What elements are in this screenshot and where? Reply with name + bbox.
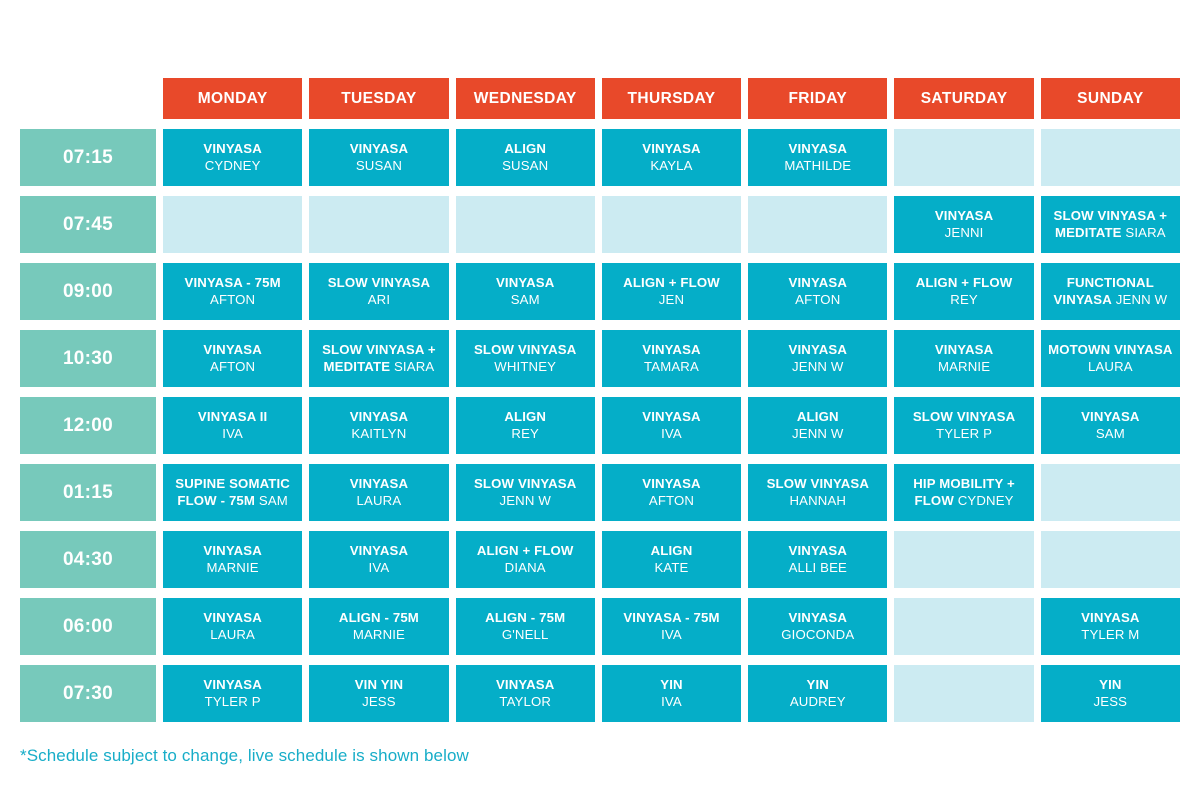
class-slot-text: VINYASAJENNI [935, 208, 993, 242]
class-name: VINYASA [935, 342, 993, 359]
class-slot[interactable]: VINYASACYDNEY [163, 129, 302, 186]
class-name: VINYASA [789, 342, 847, 359]
class-name: SLOW VINYASA [474, 342, 576, 359]
instructor-name: ARI [328, 292, 430, 309]
class-slot-text: SLOW VINYASA + MEDITATE SIARA [1046, 208, 1175, 242]
instructor-name: SAM [496, 292, 554, 309]
class-slot[interactable]: VINYASATAMARA [602, 330, 741, 387]
class-slot[interactable]: VINYASATYLER M [1041, 598, 1180, 655]
class-slot[interactable]: SLOW VINYASAJENN W [456, 464, 595, 521]
time-slot-label: 04:30 [20, 531, 156, 588]
class-slot[interactable]: VINYASAMARNIE [894, 330, 1033, 387]
class-slot-text: VINYASATYLER M [1081, 610, 1139, 644]
instructor-name: TYLER P [203, 694, 261, 711]
grid-corner-spacer [20, 78, 156, 119]
time-slot-label: 12:00 [20, 397, 156, 454]
instructor-name: SUSAN [502, 158, 548, 175]
instructor-name: REY [916, 292, 1013, 309]
class-name: VINYASA [203, 610, 261, 627]
instructor-name: MARNIE [203, 560, 261, 577]
class-slot-text: ALIGN - 75MMARNIE [339, 610, 419, 644]
class-name: SLOW VINYASA [767, 476, 869, 493]
empty-slot [748, 196, 887, 253]
class-slot-text: VINYASAGIOCONDA [781, 610, 854, 644]
empty-slot [894, 598, 1033, 655]
class-name: VINYASA [642, 476, 700, 493]
class-slot[interactable]: SLOW VINYASA + MEDITATE SIARA [1041, 196, 1180, 253]
class-name: VINYASA [1081, 409, 1139, 426]
class-slot[interactable]: VINYASA - 75MAFTON [163, 263, 302, 320]
empty-slot [894, 531, 1033, 588]
class-slot-text: VINYASALAURA [203, 610, 261, 644]
class-name: VINYASA [642, 141, 700, 158]
instructor-name: REY [504, 426, 546, 443]
class-slot[interactable]: HIP MOBILITY + FLOW CYDNEY [894, 464, 1033, 521]
time-slot-label: 07:15 [20, 129, 156, 186]
class-slot[interactable]: VINYASAIVA [602, 397, 741, 454]
class-slot-text: MOTOWN VINYASALAURA [1048, 342, 1172, 376]
instructor-name: IVA [642, 426, 700, 443]
class-name: SLOW VINYASA [474, 476, 576, 493]
class-slot[interactable]: VINYASATAYLOR [456, 665, 595, 722]
instructor-name: SIARA [1125, 225, 1165, 240]
class-slot-text: VINYASATAYLOR [496, 677, 554, 711]
class-slot-text: YINIVA [660, 677, 682, 711]
class-slot-text: VINYASAAFTON [642, 476, 700, 510]
class-name: VINYASA [784, 141, 851, 158]
class-name: VINYASA [203, 342, 261, 359]
class-slot[interactable]: VINYASAALLI BEE [748, 531, 887, 588]
instructor-name: SAM [259, 493, 288, 508]
class-slot[interactable]: VINYASAKAYLA [602, 129, 741, 186]
day-header-saturday: SATURDAY [894, 78, 1033, 119]
class-name: VINYASA - 75M [185, 275, 281, 292]
class-name: VINYASA - 75M [623, 610, 719, 627]
instructor-name: TYLER P [913, 426, 1015, 443]
class-name: VINYASA [496, 677, 554, 694]
class-slot[interactable]: YINJESS [1041, 665, 1180, 722]
class-slot-text: VINYASASAM [1081, 409, 1139, 443]
class-slot[interactable]: YINAUDREY [748, 665, 887, 722]
class-slot-text: VINYASACYDNEY [203, 141, 261, 175]
class-slot[interactable]: VINYASAJENN W [748, 330, 887, 387]
instructor-name: JENN W [792, 426, 843, 443]
instructor-name: JENN W [474, 493, 576, 510]
class-slot-text: YINAUDREY [790, 677, 846, 711]
class-name: ALIGN [792, 409, 843, 426]
class-slot[interactable]: SLOW VINYASAHANNAH [748, 464, 887, 521]
class-slot[interactable]: VINYASA IIIVA [163, 397, 302, 454]
class-slot[interactable]: SLOW VINYASATYLER P [894, 397, 1033, 454]
time-slot-label: 09:00 [20, 263, 156, 320]
class-name: VINYASA [642, 342, 700, 359]
class-name: ALIGN - 75M [485, 610, 565, 627]
day-header-wednesday: WEDNESDAY [456, 78, 595, 119]
class-slot[interactable]: ALIGN + FLOWJEN [602, 263, 741, 320]
time-slot-label: 10:30 [20, 330, 156, 387]
class-slot[interactable]: MOTOWN VINYASALAURA [1041, 330, 1180, 387]
empty-slot [1041, 129, 1180, 186]
class-slot[interactable]: VINYASASAM [456, 263, 595, 320]
class-slot-text: ALIGN + FLOWREY [916, 275, 1013, 309]
instructor-name: AUDREY [790, 694, 846, 711]
class-name: MOTOWN VINYASA [1048, 342, 1172, 359]
class-slot-text: ALIGNSUSAN [502, 141, 548, 175]
class-slot-text: VINYASALAURA [350, 476, 408, 510]
empty-slot [1041, 464, 1180, 521]
class-name: VINYASA [350, 141, 408, 158]
class-slot-text: VINYASA - 75MIVA [623, 610, 719, 644]
class-slot[interactable]: VINYASASAM [1041, 397, 1180, 454]
instructor-name: TAMARA [642, 359, 700, 376]
instructor-name: GIOCONDA [781, 627, 854, 644]
class-slot[interactable]: VINYASASUSAN [309, 129, 448, 186]
class-name: VINYASA [203, 677, 261, 694]
class-slot[interactable]: FUNCTIONAL VINYASA JENN W [1041, 263, 1180, 320]
class-slot[interactable]: ALIGN + FLOWDIANA [456, 531, 595, 588]
class-slot[interactable]: VINYASA - 75MIVA [602, 598, 741, 655]
instructor-name: AFTON [789, 292, 847, 309]
day-header-sunday: SUNDAY [1041, 78, 1180, 119]
class-slot-text: VINYASAALLI BEE [789, 543, 847, 577]
class-slot-text: VINYASAIVA [642, 409, 700, 443]
class-slot-text: VINYASASUSAN [350, 141, 408, 175]
instructor-name: JESS [1094, 694, 1128, 711]
class-slot[interactable]: SLOW VINYASAWHITNEY [456, 330, 595, 387]
empty-slot [894, 665, 1033, 722]
instructor-name: MATHILDE [784, 158, 851, 175]
class-slot-text: VINYASATAMARA [642, 342, 700, 376]
class-slot-text: SLOW VINYASA + MEDITATE SIARA [314, 342, 443, 376]
instructor-name: CYDNEY [203, 158, 261, 175]
class-name: YIN [790, 677, 846, 694]
class-slot-text: SLOW VINYASATYLER P [913, 409, 1015, 443]
class-slot[interactable]: VINYASAMARNIE [163, 531, 302, 588]
class-slot-text: VINYASAIVA [350, 543, 408, 577]
class-name: ALIGN + FLOW [623, 275, 720, 292]
class-slot-text: ALIGNREY [504, 409, 546, 443]
class-schedule-page: MONDAYTUESDAYWEDNESDAYTHURSDAYFRIDAYSATU… [0, 0, 1200, 800]
instructor-name: IVA [623, 627, 719, 644]
time-slot-label: 07:30 [20, 665, 156, 722]
class-name: ALIGN - 75M [339, 610, 419, 627]
class-name: VINYASA [350, 409, 408, 426]
empty-slot [602, 196, 741, 253]
instructor-name: SAM [1081, 426, 1139, 443]
class-slot-text: ALIGN - 75MG'NELL [485, 610, 565, 644]
class-name: VINYASA [350, 476, 408, 493]
class-name: VINYASA [203, 543, 261, 560]
class-name: YIN [1094, 677, 1128, 694]
class-slot[interactable]: VINYASAKAITLYN [309, 397, 448, 454]
instructor-name: WHITNEY [474, 359, 576, 376]
class-slot-text: SLOW VINYASAHANNAH [767, 476, 869, 510]
class-slot[interactable]: VINYASAIVA [309, 531, 448, 588]
class-slot[interactable]: VINYASAAFTON [163, 330, 302, 387]
class-slot-text: VINYASAMARNIE [203, 543, 261, 577]
empty-slot [1041, 531, 1180, 588]
class-slot-text: FUNCTIONAL VINYASA JENN W [1046, 275, 1175, 309]
day-header-tuesday: TUESDAY [309, 78, 448, 119]
class-name: VINYASA [789, 543, 847, 560]
class-slot[interactable]: YINIVA [602, 665, 741, 722]
class-name: VINYASA [496, 275, 554, 292]
class-slot-text: HIP MOBILITY + FLOW CYDNEY [899, 476, 1028, 510]
class-name: YIN [660, 677, 682, 694]
class-name: ALIGN [504, 409, 546, 426]
instructor-name: ALLI BEE [789, 560, 847, 577]
day-header-thursday: THURSDAY [602, 78, 741, 119]
instructor-name: MARNIE [935, 359, 993, 376]
instructor-name: IVA [660, 694, 682, 711]
class-name: VINYASA [935, 208, 993, 225]
class-slot-text: VINYASAAFTON [203, 342, 261, 376]
class-slot-text: VINYASAMATHILDE [784, 141, 851, 175]
class-slot-text: ALIGNJENN W [792, 409, 843, 443]
class-name: VINYASA [781, 610, 854, 627]
day-header-friday: FRIDAY [748, 78, 887, 119]
class-slot-text: VINYASAKAITLYN [350, 409, 408, 443]
class-slot[interactable]: SLOW VINYASA + MEDITATE SIARA [309, 330, 448, 387]
class-slot-text: YINJESS [1094, 677, 1128, 711]
empty-slot [456, 196, 595, 253]
class-name: VINYASA II [198, 409, 267, 426]
class-name: VINYASA [1081, 610, 1139, 627]
instructor-name: G'NELL [485, 627, 565, 644]
class-slot-text: SLOW VINYASAJENN W [474, 476, 576, 510]
instructor-name: JENNI [935, 225, 993, 242]
class-slot[interactable]: VINYASALAURA [163, 598, 302, 655]
class-name: VINYASA [203, 141, 261, 158]
instructor-name: JEN [623, 292, 720, 309]
class-slot-text: VINYASASAM [496, 275, 554, 309]
class-name: SLOW VINYASA [328, 275, 430, 292]
instructor-name: AFTON [642, 493, 700, 510]
empty-slot [163, 196, 302, 253]
class-name: VINYASA [789, 275, 847, 292]
class-slot-text: ALIGNKATE [651, 543, 693, 577]
instructor-name: SIARA [394, 359, 434, 374]
instructor-name: HANNAH [767, 493, 869, 510]
class-slot-text: VIN YINJESS [355, 677, 403, 711]
class-slot-text: ALIGN + FLOWJEN [623, 275, 720, 309]
instructor-name: IVA [198, 426, 267, 443]
class-name: VIN YIN [355, 677, 403, 694]
class-slot-text: SLOW VINYASAWHITNEY [474, 342, 576, 376]
class-slot[interactable]: VINYASAAFTON [748, 263, 887, 320]
class-slot-text: VINYASA - 75MAFTON [185, 275, 281, 309]
instructor-name: JESS [355, 694, 403, 711]
instructor-name: DIANA [477, 560, 574, 577]
class-name: SLOW VINYASA [913, 409, 1015, 426]
instructor-name: AFTON [185, 292, 281, 309]
instructor-name: CYDNEY [958, 493, 1014, 508]
instructor-name: JENN W [1116, 292, 1167, 307]
class-slot[interactable]: ALIGN - 75MG'NELL [456, 598, 595, 655]
instructor-name: LAURA [350, 493, 408, 510]
class-slot[interactable]: ALIGNKATE [602, 531, 741, 588]
class-slot[interactable]: ALIGNSUSAN [456, 129, 595, 186]
class-name: VINYASA [350, 543, 408, 560]
class-slot[interactable]: VINYASAMATHILDE [748, 129, 887, 186]
instructor-name: MARNIE [339, 627, 419, 644]
class-name: ALIGN + FLOW [916, 275, 1013, 292]
class-name: VINYASA [642, 409, 700, 426]
class-slot[interactable]: VINYASAJENNI [894, 196, 1033, 253]
class-slot-text: VINYASATYLER P [203, 677, 261, 711]
instructor-name: KAITLYN [350, 426, 408, 443]
day-header-monday: MONDAY [163, 78, 302, 119]
instructor-name: IVA [350, 560, 408, 577]
schedule-grid: MONDAYTUESDAYWEDNESDAYTHURSDAYFRIDAYSATU… [20, 78, 1180, 722]
class-slot[interactable]: VINYASATYLER P [163, 665, 302, 722]
class-slot[interactable]: VINYASALAURA [309, 464, 448, 521]
class-slot-text: ALIGN + FLOWDIANA [477, 543, 574, 577]
empty-slot [309, 196, 448, 253]
class-slot-text: SLOW VINYASAARI [328, 275, 430, 309]
time-slot-label: 07:45 [20, 196, 156, 253]
class-slot[interactable]: ALIGNREY [456, 397, 595, 454]
empty-slot [894, 129, 1033, 186]
class-slot[interactable]: ALIGN - 75MMARNIE [309, 598, 448, 655]
instructor-name: TAYLOR [496, 694, 554, 711]
class-slot-text: VINYASAMARNIE [935, 342, 993, 376]
class-name: ALIGN [502, 141, 548, 158]
instructor-name: KAYLA [642, 158, 700, 175]
class-slot[interactable]: ALIGN + FLOWREY [894, 263, 1033, 320]
class-slot[interactable]: VIN YINJESS [309, 665, 448, 722]
instructor-name: AFTON [203, 359, 261, 376]
class-name: ALIGN + FLOW [477, 543, 574, 560]
instructor-name: SUSAN [350, 158, 408, 175]
class-slot[interactable]: VINYASAAFTON [602, 464, 741, 521]
schedule-footnote: *Schedule subject to change, live schedu… [20, 746, 469, 766]
time-slot-label: 06:00 [20, 598, 156, 655]
class-slot[interactable]: VINYASAGIOCONDA [748, 598, 887, 655]
class-slot-text: VINYASAJENN W [789, 342, 847, 376]
class-slot[interactable]: SUPINE SOMATIC FLOW - 75M SAM [163, 464, 302, 521]
class-name: ALIGN [651, 543, 693, 560]
instructor-name: KATE [651, 560, 693, 577]
time-slot-label: 01:15 [20, 464, 156, 521]
class-slot-text: VINYASA IIIVA [198, 409, 267, 443]
instructor-name: TYLER M [1081, 627, 1139, 644]
instructor-name: LAURA [1048, 359, 1172, 376]
class-slot[interactable]: SLOW VINYASAARI [309, 263, 448, 320]
instructor-name: LAURA [203, 627, 261, 644]
class-slot-text: SUPINE SOMATIC FLOW - 75M SAM [168, 476, 297, 510]
class-slot[interactable]: ALIGNJENN W [748, 397, 887, 454]
class-slot-text: VINYASAKAYLA [642, 141, 700, 175]
instructor-name: JENN W [789, 359, 847, 376]
class-slot-text: VINYASAAFTON [789, 275, 847, 309]
